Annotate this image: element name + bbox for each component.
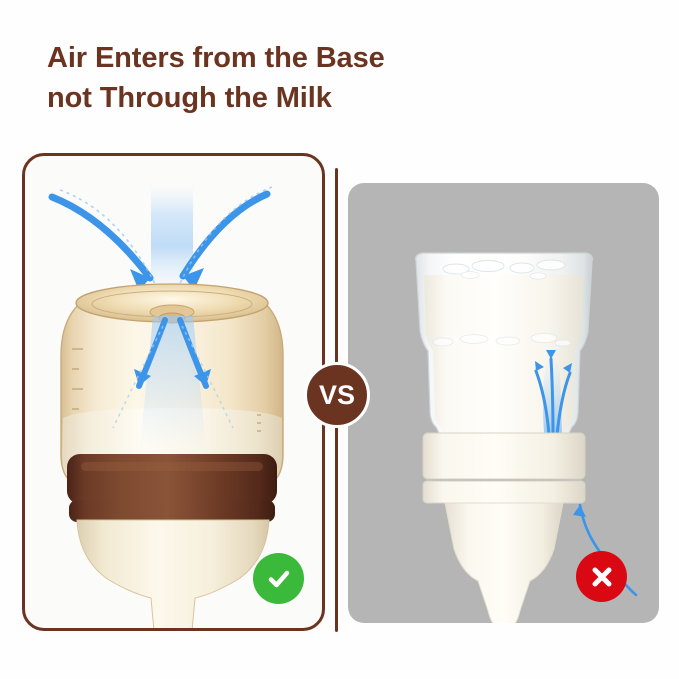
bottle-nipple	[445, 503, 563, 623]
status-badge-correct	[253, 553, 304, 604]
bottle-collar	[67, 454, 277, 522]
check-circle-icon	[264, 564, 294, 594]
bottle-nipple	[77, 520, 269, 628]
vs-badge: VS	[304, 362, 370, 428]
vs-label: VS	[319, 380, 355, 411]
incorrect-bottle-panel	[348, 183, 659, 623]
status-badge-incorrect	[576, 551, 627, 602]
page-title: Air Enters from the Base not Through the…	[47, 38, 607, 118]
correct-bottle-panel	[22, 153, 325, 631]
comparison-infographic: Air Enters from the Base not Through the…	[0, 0, 679, 679]
bottle-collar	[423, 433, 585, 503]
x-circle-icon	[588, 563, 616, 591]
